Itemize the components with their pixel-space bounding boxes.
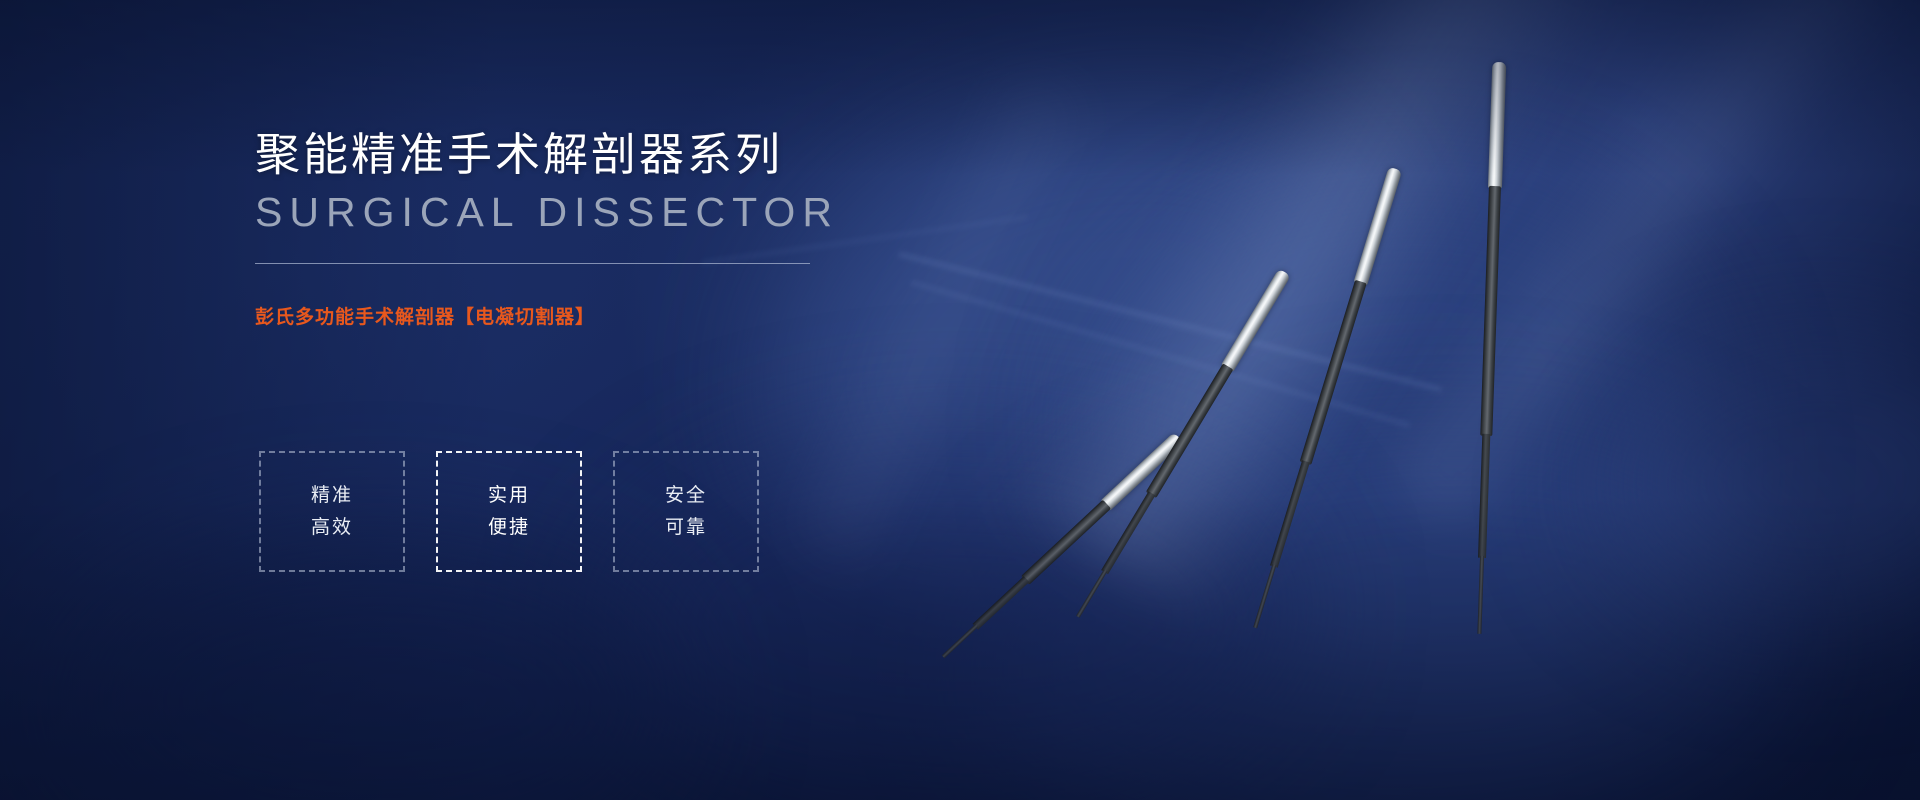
hero-text-block: 聚能精准手术解剖器系列 SURGICAL DISSECTOR 彭氏多功能手术解剖… bbox=[255, 130, 855, 329]
product-hero-banner: 聚能精准手术解剖器系列 SURGICAL DISSECTOR 彭氏多功能手术解剖… bbox=[0, 0, 1920, 800]
feature-badge-safety: 安全 可靠 bbox=[613, 451, 759, 572]
feature-badge-line1: 安全 bbox=[665, 480, 707, 511]
feature-badge-line1: 实用 bbox=[488, 480, 530, 511]
feature-badges: 精准 高效 实用 便捷 安全 可靠 bbox=[259, 451, 759, 572]
feature-badge-line2: 可靠 bbox=[665, 512, 707, 543]
page-subtitle: SURGICAL DISSECTOR bbox=[255, 190, 855, 235]
divider bbox=[255, 263, 810, 264]
background-gradient bbox=[0, 0, 1920, 800]
feature-badge-practical: 实用 便捷 bbox=[436, 451, 582, 572]
feature-badge-line1: 精准 bbox=[311, 480, 353, 511]
page-title: 聚能精准手术解剖器系列 bbox=[255, 130, 855, 180]
feature-badge-precision: 精准 高效 bbox=[259, 451, 405, 572]
product-tagline: 彭氏多功能手术解剖器【电凝切割器】 bbox=[255, 302, 855, 329]
feature-badge-line2: 便捷 bbox=[488, 512, 530, 543]
feature-badge-line2: 高效 bbox=[311, 512, 353, 543]
